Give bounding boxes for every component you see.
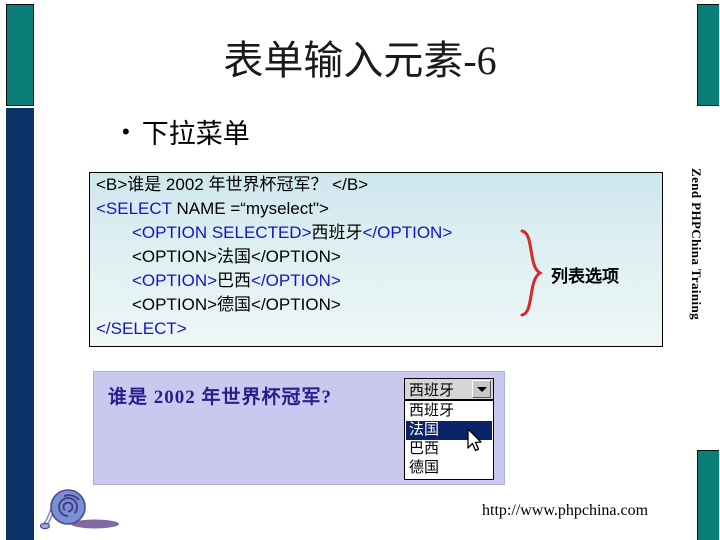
code-line: <OPTION SELECTED>西班牙</OPTION>: [90, 221, 662, 245]
decor-bar-right-teal-bottom: [697, 450, 719, 540]
code-token: <OPTION>法国</OPTION>: [132, 247, 341, 266]
code-block: <B>谁是 2002 年世界杯冠军？ </B><SELECT NAME =“my…: [89, 172, 663, 347]
code-token: NAME =“myselect">: [176, 199, 328, 218]
phpchina-snail-logo: [40, 488, 120, 532]
dropdown-option-list[interactable]: 西班牙法国巴西德国: [404, 400, 494, 480]
preview-question-text: 谁是 2002 年世界杯冠军?: [108, 382, 332, 409]
brace-annotation-label: 列表选项: [551, 262, 619, 287]
code-token: 巴西: [217, 271, 251, 290]
code-token: </SELECT>: [96, 319, 187, 338]
browser-preview-panel: 谁是 2002 年世界杯冠军? 西班牙 西班牙法国巴西德国: [93, 371, 505, 485]
code-line: <B>谁是 2002 年世界杯冠军？ </B>: [90, 173, 662, 197]
dropdown-option[interactable]: 德国: [406, 459, 492, 478]
dropdown-combobox[interactable]: 西班牙: [404, 378, 494, 400]
dropdown-option[interactable]: 巴西: [406, 440, 492, 459]
page-title: 表单输入元素-6: [60, 28, 660, 86]
curly-brace-icon: [518, 228, 546, 318]
side-branding-text: Zend PHPChina Training: [690, 168, 704, 388]
dropdown-option[interactable]: 西班牙: [406, 402, 492, 421]
bullet-row: • 下拉菜单: [122, 112, 250, 151]
code-token: <B>谁是 2002 年世界杯冠军？ </B>: [96, 175, 368, 194]
bullet-label: 下拉菜单: [142, 112, 250, 151]
code-token: 西班牙: [312, 223, 363, 242]
decor-bar-left-teal: [6, 4, 34, 106]
dropdown-option[interactable]: 法国: [406, 421, 492, 440]
chevron-down-glyph: [477, 387, 487, 392]
code-token: </OPTION>: [363, 223, 453, 242]
dropdown-selected-value: 西班牙: [405, 379, 472, 400]
code-token: <OPTION>: [132, 271, 217, 290]
code-line: </SELECT>: [90, 317, 662, 341]
chevron-down-icon[interactable]: [472, 380, 491, 398]
footer-url[interactable]: http://www.phpchina.com: [482, 502, 648, 520]
code-token: </OPTION>: [251, 271, 341, 290]
code-token: <OPTION>德国</OPTION>: [132, 295, 341, 314]
brace-annotation: [518, 228, 546, 318]
code-line: <OPTION>德国</OPTION>: [90, 293, 662, 317]
bullet-dot-icon: •: [122, 121, 130, 143]
slide-canvas: Zend PHPChina Training 表单输入元素-6 • 下拉菜单 <…: [0, 0, 720, 540]
code-token: <OPTION SELECTED>: [132, 223, 312, 242]
code-line: <SELECT NAME =“myselect">: [90, 197, 662, 221]
decor-bar-right-teal-top: [697, 4, 719, 106]
code-token: <SELECT: [96, 199, 176, 218]
decor-bar-left-navy: [6, 108, 34, 540]
code-lines: <B>谁是 2002 年世界杯冠军？ </B><SELECT NAME =“my…: [90, 173, 662, 341]
